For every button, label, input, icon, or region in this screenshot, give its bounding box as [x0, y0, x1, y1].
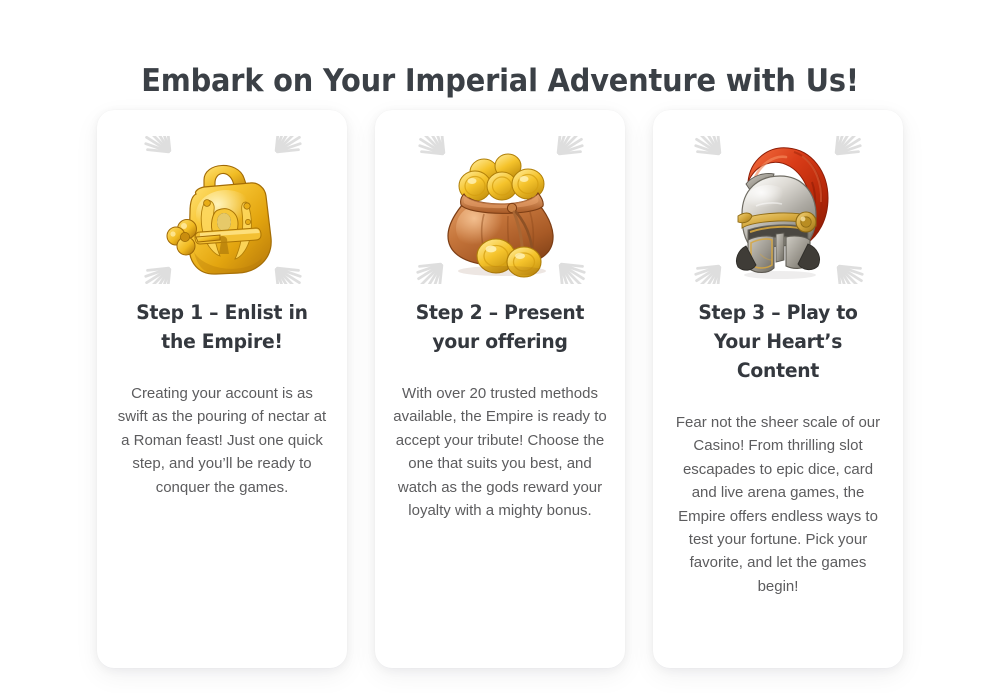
ray-burst-bottom-right	[826, 254, 866, 284]
ray-burst-top-left	[137, 136, 182, 164]
step-card-3-title: Step 3 – Play to Your Heart’s Content	[675, 298, 880, 385]
ray-burst-top-right	[546, 136, 588, 166]
step-card-1[interactable]: Step 1 – Enlist in the Empire! Creating …	[97, 110, 347, 668]
golden-padlock-with-key-icon	[134, 136, 310, 284]
money-bag-with-gold-coins-icon	[412, 136, 588, 284]
roman-centurion-helmet-icon	[690, 136, 866, 284]
ray-burst-bottom-left	[137, 256, 182, 284]
ray-burst-top-left	[690, 136, 732, 166]
step-card-3[interactable]: Step 3 – Play to Your Heart’s Content Fe…	[653, 110, 903, 668]
step-card-1-body: Creating your account is as swift as the…	[111, 382, 333, 499]
step-card-2-title: Step 2 – Present your offering	[397, 298, 602, 356]
step-card-3-body: Fear not the sheer scale of our Casino! …	[670, 411, 886, 598]
helmet-side-boss	[796, 212, 816, 232]
ray-burst-top-right	[824, 136, 866, 166]
page-title: Embark on Your Imperial Adventure with U…	[35, 60, 965, 102]
step-card-1-title: Step 1 – Enlist in the Empire!	[119, 298, 324, 356]
step-card-2-body: With over 20 trusted methods available, …	[391, 382, 609, 522]
step-card-2[interactable]: Step 2 – Present your offering With over…	[375, 110, 625, 668]
ray-burst-bottom-left	[690, 254, 732, 284]
ray-burst-bottom-left	[412, 252, 454, 284]
ray-burst-top-left	[412, 136, 456, 166]
ray-burst-bottom-right	[548, 252, 588, 284]
ray-burst-bottom-right	[264, 256, 309, 284]
how-it-works-section: Embark on Your Imperial Adventure with U…	[0, 0, 1000, 693]
steps-card-row: Step 1 – Enlist in the Empire! Creating …	[97, 110, 903, 668]
ray-burst-top-right	[264, 136, 309, 164]
key-bow	[167, 220, 197, 256]
coins-in-bag	[459, 154, 544, 201]
